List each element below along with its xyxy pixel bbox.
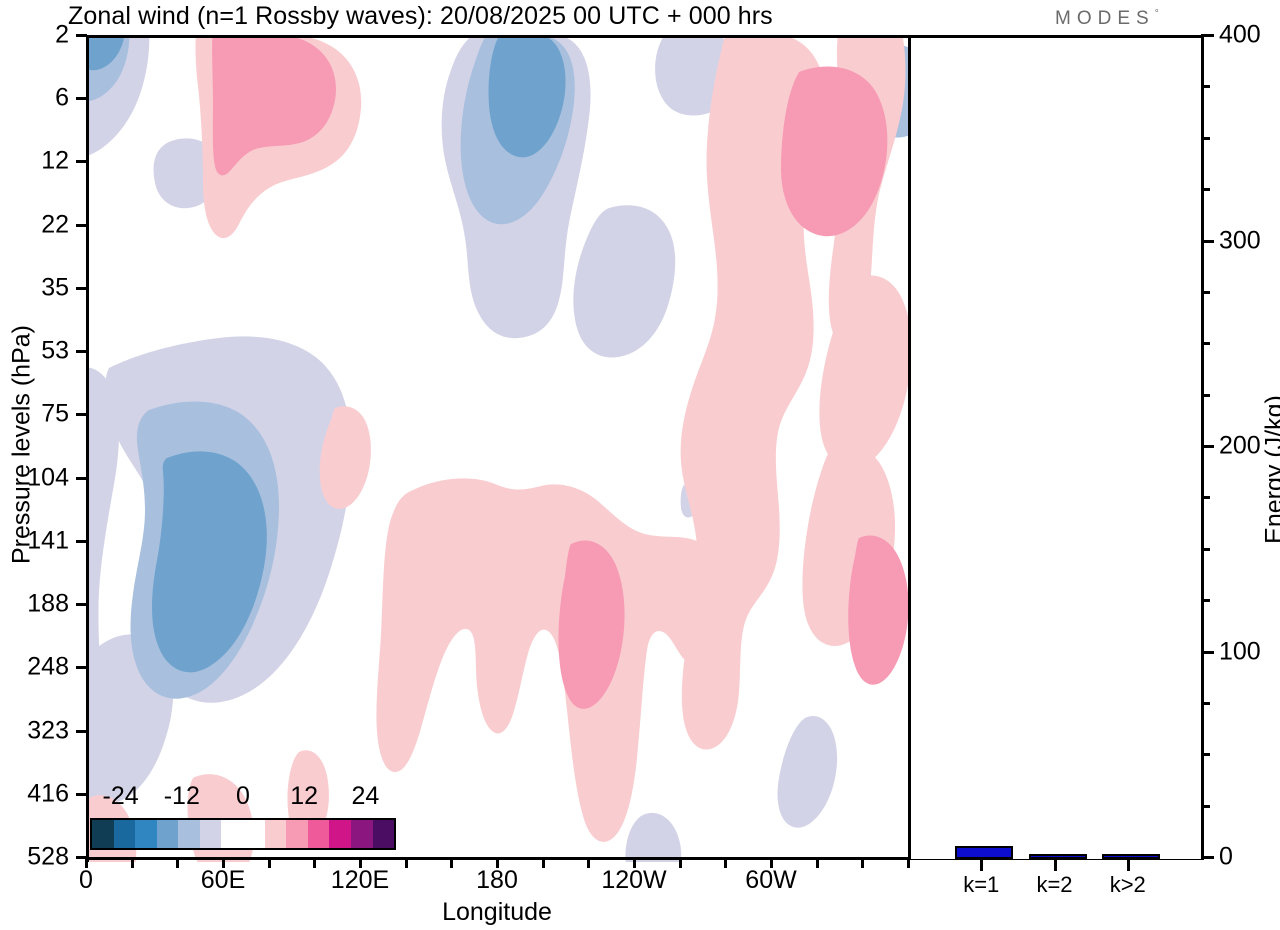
right-axis-tick-label: 400 bbox=[1219, 21, 1261, 50]
right-axis-tick-label: 0 bbox=[1219, 843, 1233, 872]
right-axis-tick-label: 200 bbox=[1219, 432, 1261, 461]
colorbar-swatch bbox=[329, 820, 351, 848]
y-axis-tick-label: 53 bbox=[41, 337, 69, 366]
bar-category-label: k=1 bbox=[963, 872, 999, 898]
x-axis-tick bbox=[907, 857, 910, 868]
right-axis-tick bbox=[1201, 805, 1210, 808]
y-axis-tick bbox=[76, 540, 87, 543]
right-axis-tick-label: 300 bbox=[1219, 226, 1261, 255]
right-axis-title: Energy (J/kg) bbox=[1261, 305, 1280, 635]
colorbar-tick-label: -24 bbox=[103, 782, 139, 811]
x-axis-tick bbox=[679, 857, 682, 868]
page-title: Zonal wind (n=1 Rossby waves): 20/08/202… bbox=[68, 2, 773, 31]
y-axis-tick bbox=[76, 413, 87, 416]
right-axis-tick bbox=[1201, 548, 1210, 551]
right-axis-tick bbox=[1201, 753, 1210, 756]
bar-category-label: k>2 bbox=[1110, 872, 1146, 898]
energy-bar[interactable] bbox=[955, 846, 1013, 859]
y-axis-tick bbox=[76, 224, 87, 227]
y-axis-tick-label: 12 bbox=[41, 147, 69, 176]
y-axis-title: Pressure levels (hPa) bbox=[8, 280, 37, 610]
y-axis-tick-label: 35 bbox=[41, 273, 69, 302]
bar-axis-tick bbox=[1054, 860, 1057, 871]
right-axis-tick bbox=[1201, 496, 1210, 499]
colorbar-tick-label: 24 bbox=[351, 782, 379, 811]
figure-root: Zonal wind (n=1 Rossby waves): 20/08/202… bbox=[0, 0, 1280, 930]
modes-logo-mark: ° bbox=[1155, 9, 1159, 20]
y-axis-tick bbox=[76, 350, 87, 353]
x-axis-tick-label: 60E bbox=[201, 866, 245, 895]
colorbar bbox=[90, 818, 396, 850]
right-axis-tick bbox=[1201, 85, 1210, 88]
y-axis-tick bbox=[76, 666, 87, 669]
right-axis-tick bbox=[1201, 702, 1210, 705]
colorbar-swatch bbox=[135, 820, 157, 848]
y-axis-tick bbox=[76, 34, 87, 37]
x-axis-tick bbox=[542, 857, 545, 868]
x-axis-tick bbox=[450, 857, 453, 868]
y-axis-tick bbox=[76, 793, 87, 796]
y-axis-tick-label: 6 bbox=[55, 84, 69, 113]
x-axis-title: Longitude bbox=[442, 898, 552, 927]
colorbar-swatch bbox=[221, 820, 243, 848]
colorbar-swatch bbox=[114, 820, 136, 848]
right-axis-tick bbox=[1201, 445, 1214, 448]
colorbar-swatch bbox=[243, 820, 265, 848]
colorbar-swatch bbox=[286, 820, 308, 848]
colorbar-tick-label: 0 bbox=[236, 782, 250, 811]
x-axis-tick bbox=[131, 857, 134, 868]
x-axis-tick-label: 120E bbox=[331, 866, 389, 895]
colorbar-swatch bbox=[351, 820, 373, 848]
colorbar-swatch bbox=[178, 820, 200, 848]
right-axis-tick-label: 100 bbox=[1219, 637, 1261, 666]
colorbar-swatch bbox=[308, 820, 330, 848]
y-axis-tick-label: 22 bbox=[41, 210, 69, 239]
right-axis-tick bbox=[1201, 34, 1214, 37]
bar-axis-tick bbox=[980, 860, 983, 871]
y-axis-tick bbox=[76, 160, 87, 163]
x-axis-tick-label: 60W bbox=[745, 866, 796, 895]
bar-axis-tick bbox=[1127, 860, 1130, 871]
right-axis-tick bbox=[1201, 342, 1210, 345]
x-axis-tick bbox=[816, 857, 819, 868]
y-axis-tick bbox=[76, 730, 87, 733]
y-axis-tick bbox=[76, 97, 87, 100]
y-axis-tick-label: 528 bbox=[27, 843, 69, 872]
x-axis-tick bbox=[861, 857, 864, 868]
y-axis-tick bbox=[76, 477, 87, 480]
colorbar-tick-label: 12 bbox=[290, 782, 318, 811]
right-axis-tick bbox=[1201, 651, 1214, 654]
right-axis-tick bbox=[1201, 599, 1210, 602]
y-axis-tick-label: 2 bbox=[55, 21, 69, 50]
y-axis-tick-label: 75 bbox=[41, 400, 69, 429]
x-axis-tick-label: 0 bbox=[79, 866, 93, 895]
energy-bar-panel bbox=[908, 35, 1201, 859]
y-axis-tick-label: 248 bbox=[27, 653, 69, 682]
x-axis-tick bbox=[405, 857, 408, 868]
x-axis-tick-label: 180 bbox=[476, 866, 518, 895]
modes-logo: MODES° bbox=[1055, 8, 1159, 30]
x-axis-tick bbox=[176, 857, 179, 868]
right-axis-tick bbox=[1201, 188, 1210, 191]
energy-bar[interactable] bbox=[1029, 854, 1087, 859]
right-axis-tick bbox=[1201, 137, 1210, 140]
right-axis-tick bbox=[1201, 240, 1214, 243]
y-axis-tick bbox=[76, 287, 87, 290]
energy-bar[interactable] bbox=[1102, 854, 1160, 859]
right-axis-tick bbox=[1201, 291, 1210, 294]
colorbar-swatch bbox=[265, 820, 287, 848]
contour-field bbox=[89, 38, 911, 862]
colorbar-swatch bbox=[373, 820, 395, 848]
x-axis-tick bbox=[268, 857, 271, 868]
right-axis-tick bbox=[1201, 394, 1210, 397]
colorbar-swatch bbox=[200, 820, 222, 848]
y-axis-tick-label: 416 bbox=[27, 779, 69, 808]
x-axis-tick bbox=[587, 857, 590, 868]
bar-category-label: k=2 bbox=[1036, 872, 1072, 898]
colorbar-tick-label: -12 bbox=[164, 782, 200, 811]
colorbar-swatch bbox=[157, 820, 179, 848]
contour-plot-panel bbox=[86, 35, 911, 862]
modes-logo-text: MODES bbox=[1055, 8, 1155, 29]
bar-group bbox=[911, 38, 1201, 859]
y-axis-tick bbox=[76, 603, 87, 606]
y-axis-tick-label: 323 bbox=[27, 716, 69, 745]
right-axis-tick bbox=[1201, 856, 1214, 859]
colorbar-swatch bbox=[92, 820, 114, 848]
x-axis-tick bbox=[313, 857, 316, 868]
x-axis-tick bbox=[724, 857, 727, 868]
x-axis-tick-label: 120W bbox=[601, 866, 666, 895]
